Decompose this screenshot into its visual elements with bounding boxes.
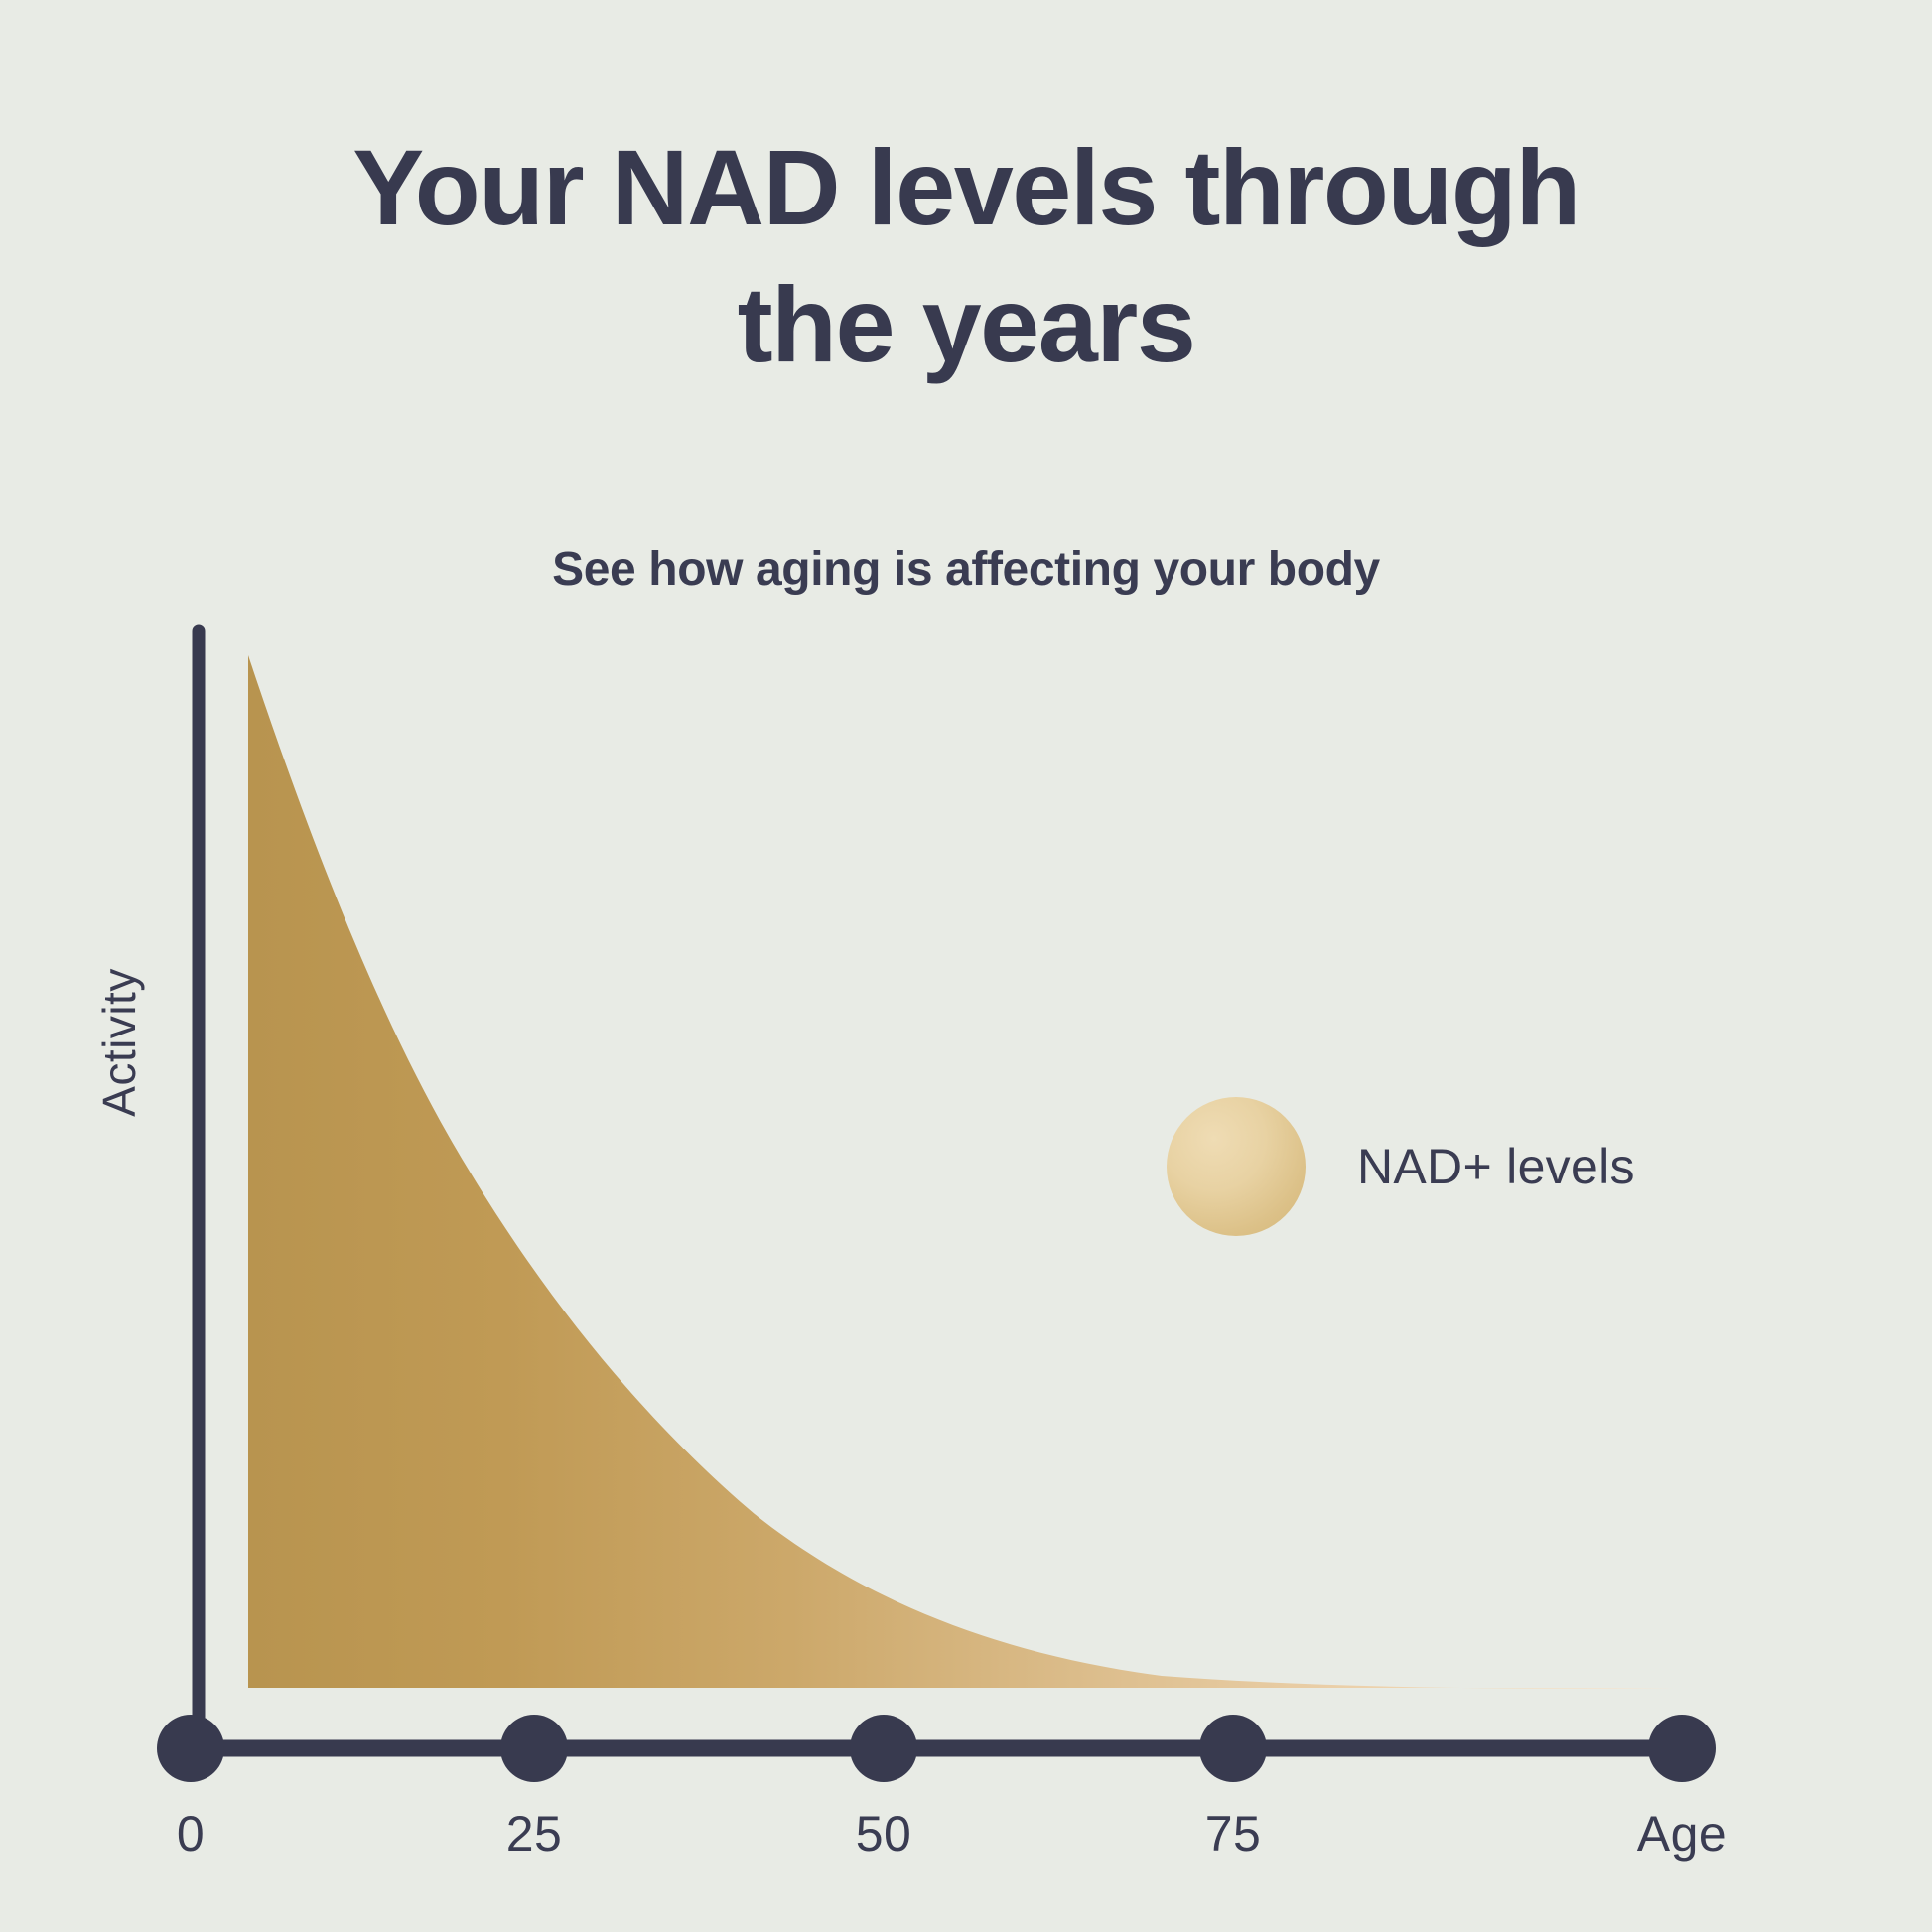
x-tick-dot-25 (500, 1715, 568, 1782)
filled-circle-icon (1167, 1097, 1306, 1236)
x-tick-dot-75 (1199, 1715, 1267, 1782)
x-axis-label-25: 25 (415, 1805, 653, 1863)
x-axis-label-age: Age (1563, 1805, 1801, 1863)
y-axis-label: Activity (89, 923, 149, 1162)
x-axis-label-75: 75 (1114, 1805, 1352, 1863)
legend-item-label-nad-levels: NAD+ levels (1357, 1138, 1635, 1195)
x-tick-dot-age (1648, 1715, 1716, 1782)
x-axis-label-0: 0 (71, 1805, 310, 1863)
nad-levels-area-chart (0, 0, 1932, 1932)
x-tick-dot-0 (157, 1715, 224, 1782)
chart-legend: NAD+ levels (1167, 1097, 1635, 1236)
x-tick-dot-50 (850, 1715, 917, 1782)
x-axis-label-50: 50 (764, 1805, 1003, 1863)
infographic-canvas: Your NAD levels through the years See ho… (0, 0, 1932, 1932)
